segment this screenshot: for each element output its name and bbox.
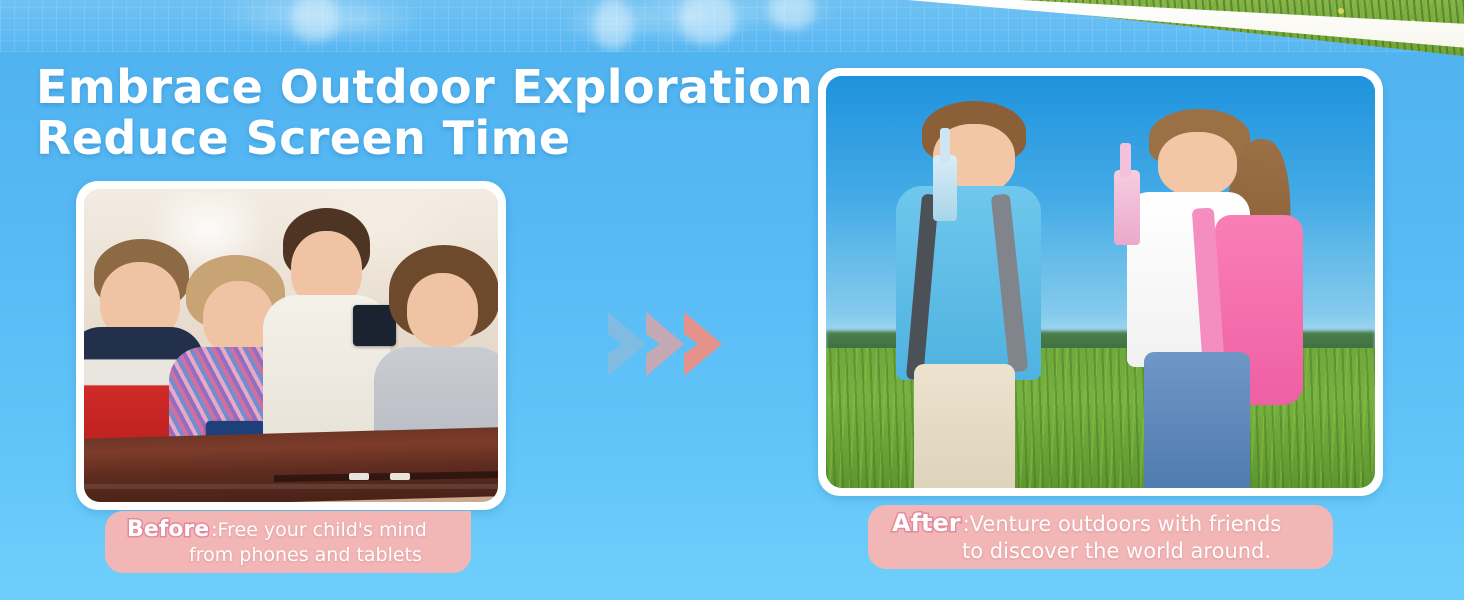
transition-chevrons (604, 310, 734, 378)
promo-banner: Embrace Outdoor Exploration Reduce Scree… (0, 0, 1464, 600)
after-boy-antenna (940, 128, 949, 163)
after-caption-text: After:Venture outdoors with friends to d… (892, 483, 1281, 592)
child-4-head (407, 273, 479, 347)
after-girl-head (1158, 132, 1237, 196)
after-boy-walkie-talkie (933, 155, 957, 221)
before-caption-line-1: :Free your child's mind (211, 519, 427, 541)
before-photo (76, 181, 506, 510)
after-caption-line-2: to discover the world around. (892, 538, 1281, 565)
headline-line-1: Embrace Outdoor Exploration (36, 60, 813, 114)
top-strip-figure-b (594, 0, 632, 50)
before-bench-slat (84, 484, 498, 489)
headline-line-2: Reduce Screen Time (36, 113, 816, 164)
flower-dot-a (1338, 8, 1344, 14)
after-caption-line-1: :Venture outdoors with friends (963, 512, 1282, 536)
before-bench-chip-a (349, 473, 369, 480)
after-scene (826, 76, 1375, 488)
after-photo-inner (826, 76, 1375, 488)
top-strip-figure-c (680, 0, 736, 44)
after-boy (892, 101, 1079, 488)
before-tag: Before (127, 517, 209, 542)
before-caption-line-2: from phones and tablets (127, 543, 427, 568)
before-caption-panel: Before:Free your child's mind from phone… (105, 511, 471, 573)
before-photo-inner (84, 189, 498, 502)
page-title: Embrace Outdoor Exploration Reduce Scree… (36, 62, 816, 164)
after-tag: After (892, 509, 961, 537)
after-boy-pants (914, 364, 1015, 488)
top-strip-figure-a (292, 0, 338, 42)
after-girl-walkie-talkie (1114, 170, 1140, 246)
after-photo (818, 68, 1383, 496)
before-caption-text: Before:Free your child's mind from phone… (127, 492, 427, 593)
chevron-icon-3 (680, 310, 726, 378)
after-girl-jeans (1144, 352, 1249, 488)
before-scene (84, 189, 498, 502)
after-caption-panel: After:Venture outdoors with friends to d… (868, 505, 1333, 569)
after-girl-antenna (1120, 143, 1131, 177)
before-bench-chip-b (390, 473, 410, 480)
after-girl (1101, 109, 1321, 488)
